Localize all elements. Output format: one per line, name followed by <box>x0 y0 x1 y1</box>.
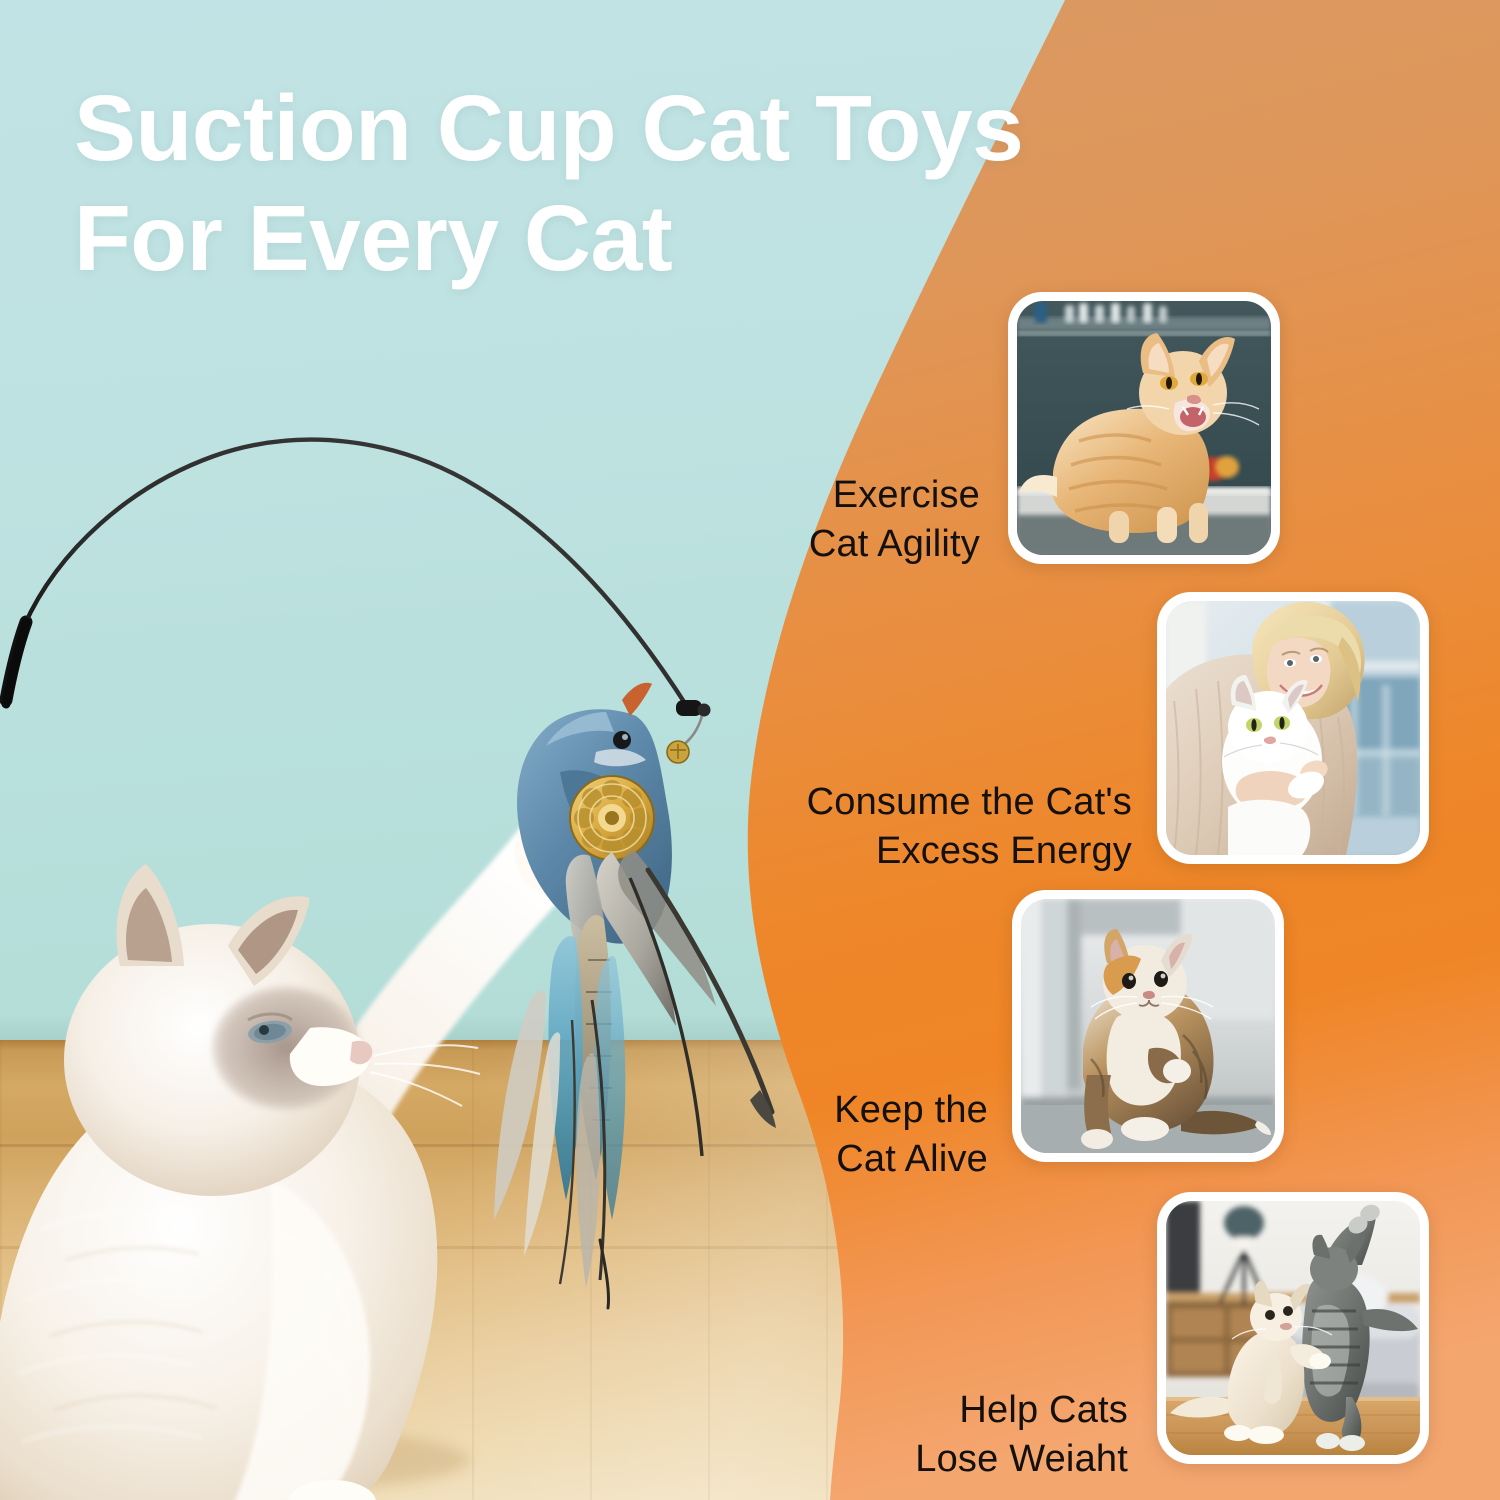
feature-photo-card-help-cats-lose-weight <box>1157 1192 1429 1464</box>
feature-photo-card-keep-cat-alive <box>1012 890 1284 1162</box>
woman-holding-white-cat-photo <box>1166 601 1420 855</box>
feature-label-consume-excess-energy: Consume the Cat's Excess Energy <box>807 778 1132 877</box>
headline-line-2: For Every Cat <box>74 184 1254 294</box>
feature-label-keep-cat-alive: Keep the Cat Alive <box>834 1086 988 1185</box>
feature-photo-card-exercise-cat-agility <box>1008 292 1280 564</box>
headline-line-1: Suction Cup Cat Toys <box>74 76 1023 180</box>
two-cats-playing-photo <box>1166 1201 1420 1455</box>
calico-cat-sitting-photo <box>1021 899 1275 1153</box>
feature-label-help-cats-lose-weight: Help Cats Lose Weiaht <box>915 1386 1128 1485</box>
orange-tabby-cat-photo <box>1017 301 1271 555</box>
feature-label-exercise-cat-agility: Exercise Cat Agility <box>809 471 980 570</box>
feature-photo-card-consume-excess-energy <box>1157 592 1429 864</box>
page-title: Suction Cup Cat Toys For Every Cat <box>74 74 1254 293</box>
product-infographic: Suction Cup Cat Toys For Every Cat Exerc… <box>0 0 1500 1500</box>
